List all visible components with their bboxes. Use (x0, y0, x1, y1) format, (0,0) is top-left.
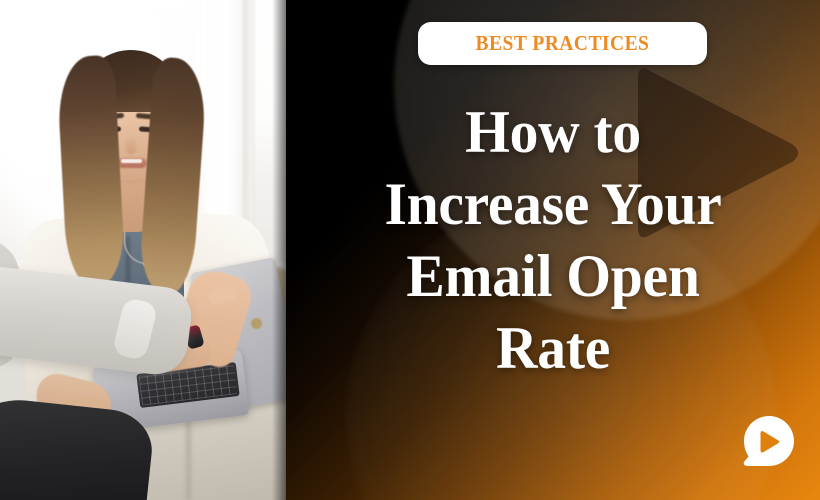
play-chat-bubble-logo[interactable] (734, 412, 798, 476)
photo-edge-fade (272, 0, 286, 500)
title-line-2: Increase Your (320, 168, 787, 240)
title-line-4: Rate (320, 312, 787, 384)
page-title: How to Increase Your Email Open Rate (310, 96, 796, 384)
title-line-1: How to (320, 96, 787, 168)
hero-photo (0, 0, 286, 500)
badge-label: BEST PRACTICES (476, 31, 650, 56)
photo-teeth (121, 159, 142, 163)
title-line-3: Email Open (320, 240, 787, 312)
photo-nose (126, 136, 136, 154)
slide-canvas: BEST PRACTICES How to Increase Your Emai… (0, 0, 820, 500)
best-practices-badge: BEST PRACTICES (418, 22, 707, 65)
content-panel: BEST PRACTICES How to Increase Your Emai… (286, 0, 820, 500)
